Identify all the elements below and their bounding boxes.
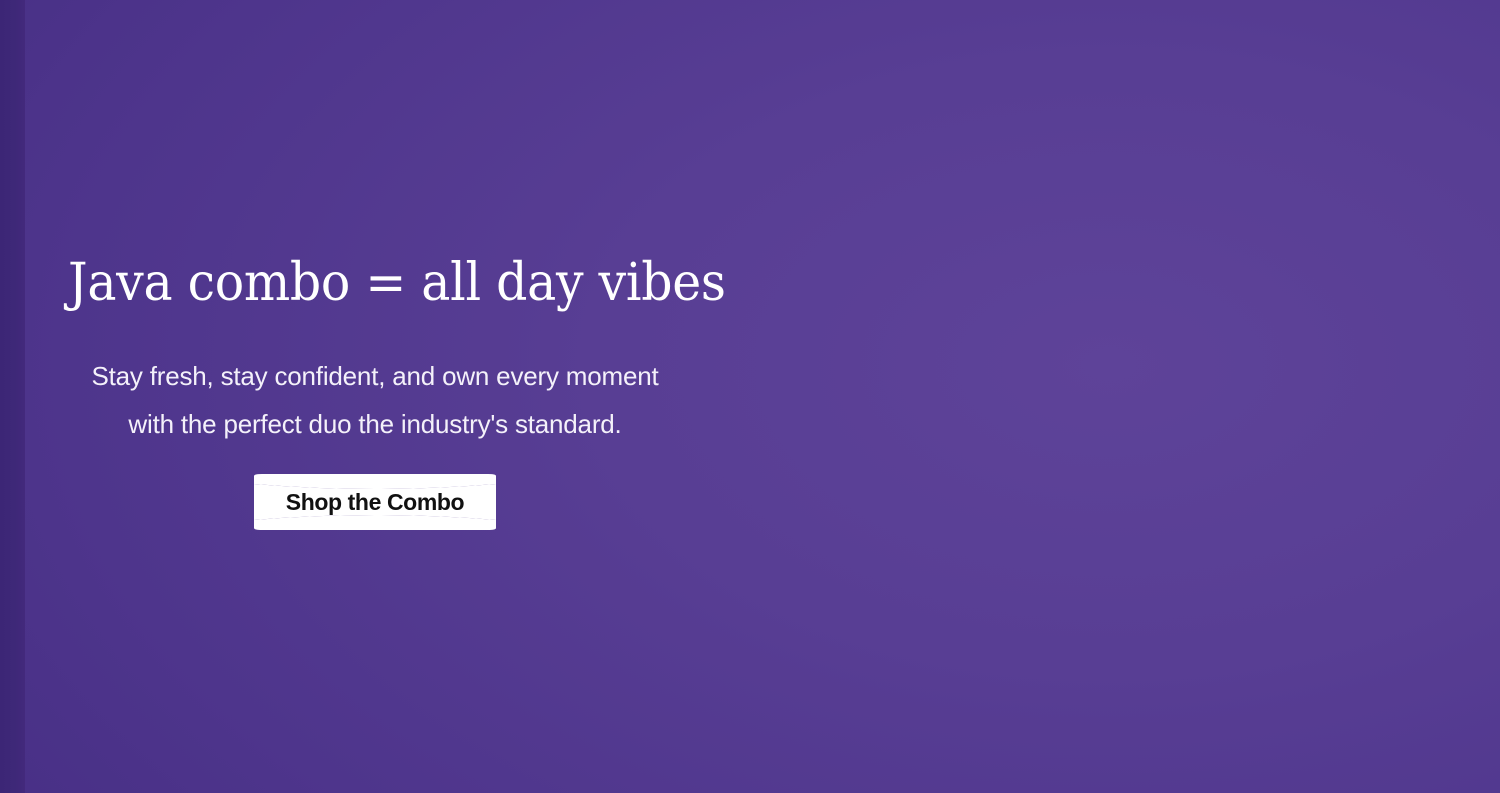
shop-the-combo-button[interactable]: Shop the Combo (246, 474, 504, 530)
hero-subtitle-line-1: Stay fresh, stay confident, and own ever… (0, 352, 750, 400)
hero-banner: Java combo = all day vibes Stay fresh, s… (0, 0, 1500, 793)
cta-label: Shop the Combo (246, 474, 504, 530)
hero-content: Java combo = all day vibes Stay fresh, s… (0, 0, 750, 793)
hero-subtitle: Stay fresh, stay confident, and own ever… (0, 352, 750, 448)
cta-container: Shop the Combo (246, 474, 504, 530)
page-title: Java combo = all day vibes (68, 255, 726, 312)
hero-subtitle-line-2: with the perfect duo the industry's stan… (0, 400, 750, 448)
